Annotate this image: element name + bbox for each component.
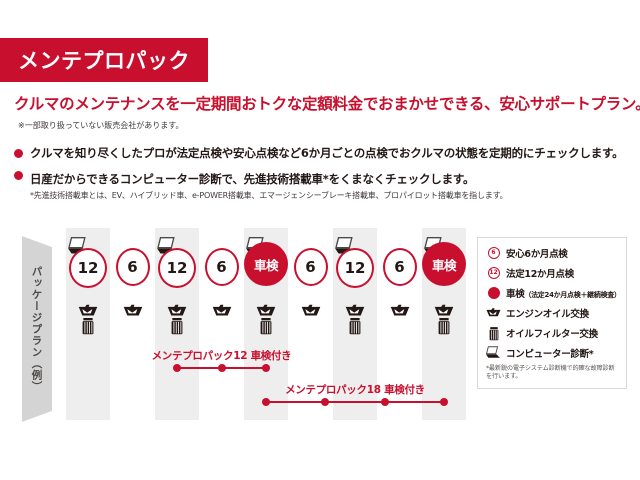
oil-filter-icon xyxy=(82,318,95,335)
lead-headline: クルマのメンテナンスを一定期間おトクな定額料金でおまかせできる、安心サポートプラ… xyxy=(14,92,628,114)
inspection-marker-shaken: 車検 xyxy=(422,242,466,286)
oil-can-icon xyxy=(78,302,98,315)
inspection-marker-6: 6 xyxy=(205,248,239,286)
timeline-column-2: 6 xyxy=(111,228,155,420)
bullet-item: クルマを知り尽くしたプロが法定点検や安心点検など6か月ごとの点検でおクルマの状態… xyxy=(14,146,630,160)
package-bracket-label: メンテプロパック12 車検付き xyxy=(152,348,292,363)
legend-item-label: 車検（法定24か月点検＋継続検査） xyxy=(506,286,621,300)
package-bracket-dot xyxy=(440,398,448,406)
package-bracket-dot xyxy=(321,398,329,406)
timeline-columns: 126126車検6126車検メンテプロパック12 車検付きメンテプロパック18 … xyxy=(66,228,466,433)
oil-filter-icon xyxy=(349,318,362,335)
inspection-marker-shaken: 車検 xyxy=(244,242,288,286)
inspection-marker-label: 6 xyxy=(127,258,137,276)
legend-item-sublabel: （法定24か月点検＋継続検査） xyxy=(524,291,620,299)
banner: メンテプロパック xyxy=(0,38,208,82)
inspection-marker-6: 6 xyxy=(383,248,417,286)
page-title: メンテプロパック xyxy=(18,45,190,75)
timeline-column-4: 6 xyxy=(200,228,244,420)
inspection-marker-6: 6 xyxy=(116,248,150,286)
legend-footnote: *最新鋭の電子システム診断機で的確な故障診断を行います。 xyxy=(486,365,618,382)
bullet-dot-icon xyxy=(14,149,23,158)
circle-12-icon: 12 xyxy=(486,265,501,280)
legend-item-5: オイルフィルター交換 xyxy=(486,325,618,340)
bullet-body: 日産だからできるコンピューター診断で、先進技術搭載車*をくまなくチェックします。… xyxy=(30,168,507,201)
oil-filter-icon xyxy=(171,318,184,335)
circle-6-icon: 6 xyxy=(486,245,501,260)
timeline-column-3: 12 xyxy=(155,228,199,420)
oil-can-icon xyxy=(390,302,410,315)
oil-can-icon xyxy=(434,302,454,315)
circle-shaken-icon xyxy=(486,285,501,300)
inspection-marker-label: 6 xyxy=(216,258,226,276)
oil-can-icon xyxy=(256,302,276,315)
legend-item-6: コンピューター診断* xyxy=(486,345,618,360)
legend-item-label: 法定12か月点検 xyxy=(506,266,574,280)
inspection-marker-label: 車検 xyxy=(254,255,278,274)
bullet-text: 日産だからできるコンピューター診断で、先進技術搭載車*をくまなくチェックします。 xyxy=(30,172,474,186)
bullet-list: クルマを知り尽くしたプロが法定点検や安心点検など6か月ごとの点検でおクルマの状態… xyxy=(14,146,630,209)
legend-item-label: オイルフィルター交換 xyxy=(506,326,598,340)
oil-can-icon xyxy=(345,302,365,315)
legend-item-1: 6安心6か月点検 xyxy=(486,245,618,260)
bullet-item: 日産だからできるコンピューター診断で、先進技術搭載車*をくまなくチェックします。… xyxy=(14,168,630,201)
inspection-marker-label: 12 xyxy=(78,259,99,277)
bullet-dot-icon xyxy=(14,171,23,180)
inspection-marker-label: 車検 xyxy=(432,255,456,274)
legend-item-label: コンピューター診断* xyxy=(506,346,593,360)
oil-can-icon xyxy=(123,302,143,315)
package-bracket-2: メンテプロパック18 車検付き xyxy=(266,380,444,406)
inspection-marker-label: 6 xyxy=(305,258,315,276)
oil-filter-icon xyxy=(486,325,501,340)
oil-can-icon xyxy=(212,302,232,315)
laptop-diagnosis-icon xyxy=(486,345,501,360)
bullet-footnote: *先進技術搭載車とは、EV、ハイブリッド車、e-POWER搭載車、エマージェンシ… xyxy=(30,190,507,201)
plan-label-text: パッケージプラン（例） xyxy=(30,266,45,393)
inspection-marker-12: 12 xyxy=(69,248,107,288)
inspection-marker-12: 12 xyxy=(158,248,196,288)
oil-can-icon xyxy=(167,302,187,315)
oil-can-icon xyxy=(486,305,501,320)
plan-label-chevron: パッケージプラン（例） xyxy=(22,236,52,422)
oil-can-icon xyxy=(301,302,321,315)
legend-rows: 6安心6か月点検12法定12か月点検車検（法定24か月点検＋継続検査）エンジンオ… xyxy=(486,245,618,360)
package-bracket-dot xyxy=(262,398,270,406)
oil-filter-icon xyxy=(438,318,451,335)
legend-item-4: エンジンオイル交換 xyxy=(486,305,618,320)
package-bracket-label: メンテプロパック18 車検付き xyxy=(285,382,425,397)
inspection-marker-12: 12 xyxy=(336,248,374,288)
legend-box: 6安心6か月点検12法定12か月点検車検（法定24か月点検＋継続検査）エンジンオ… xyxy=(477,237,627,389)
oil-filter-icon xyxy=(260,318,273,335)
package-bracket-line xyxy=(266,401,444,403)
lead-note: ※一部取り扱っていない販売会社があります。 xyxy=(18,120,184,131)
bullet-text: クルマを知り尽くしたプロが法定点検や安心点検など6か月ごとの点検でおクルマの状態… xyxy=(30,146,623,160)
legend-item-2: 12法定12か月点検 xyxy=(486,265,618,280)
package-bracket-dot xyxy=(381,398,389,406)
inspection-marker-label: 12 xyxy=(167,259,188,277)
inspection-marker-label: 12 xyxy=(345,259,366,277)
inspection-marker-6: 6 xyxy=(294,248,328,286)
package-bracket-dot xyxy=(218,364,226,372)
legend-item-3: 車検（法定24か月点検＋継続検査） xyxy=(486,285,618,300)
legend-item-label: エンジンオイル交換 xyxy=(506,306,589,320)
inspection-marker-label: 6 xyxy=(394,258,404,276)
package-bracket-dot xyxy=(173,364,181,372)
package-bracket-1: メンテプロパック12 車検付き xyxy=(177,346,266,372)
package-bracket-dot xyxy=(262,364,270,372)
timeline-column-1: 12 xyxy=(66,228,110,420)
legend-item-label: 安心6か月点検 xyxy=(506,246,568,260)
